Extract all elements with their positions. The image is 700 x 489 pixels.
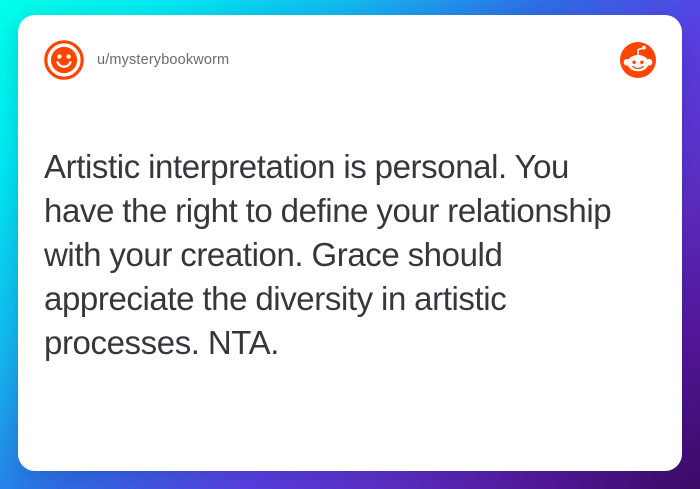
post-author[interactable]: u/mysterybookworm: [44, 40, 229, 80]
author-username: u/mysterybookworm: [97, 52, 229, 68]
reddit-post-card: u/mysterybookworm: [18, 15, 682, 471]
reddit-snoo-icon[interactable]: [620, 42, 656, 78]
post-header: u/mysterybookworm: [44, 37, 656, 83]
post-text: Artistic interpretation is personal. You…: [44, 145, 644, 365]
smiley-face-avatar-icon: [44, 40, 84, 80]
screenshot-stage: u/mysterybookworm: [0, 0, 700, 489]
post-body: Artistic interpretation is personal. You…: [44, 83, 656, 445]
